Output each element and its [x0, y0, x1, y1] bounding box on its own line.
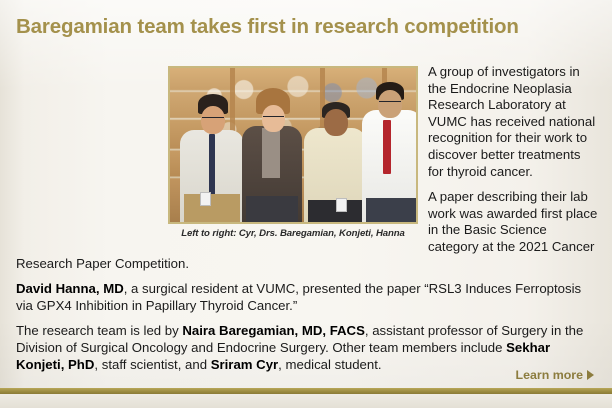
person-baregamian-pants: [246, 196, 298, 222]
person-cyr-badge: [200, 192, 211, 206]
person-konjeti-pants: [308, 200, 362, 222]
team-photo: [168, 66, 418, 224]
person-baregamian-glasses: [263, 112, 284, 117]
person-cyr: [178, 86, 246, 222]
footer-strip: [0, 394, 612, 408]
person-baregamian: [240, 82, 304, 222]
person-hanna-glasses: [379, 97, 401, 102]
person-baregamian-head: [262, 105, 285, 132]
person-konjeti-badge: [336, 198, 347, 212]
person-cyr-head: [201, 106, 225, 134]
article-paragraph-3: David Hanna, MD, a surgical resident at …: [16, 281, 598, 314]
person-cyr-pants: [184, 194, 240, 222]
article-body: Left to right: Cyr, Drs. Baregamian, Kon…: [16, 64, 598, 364]
paragraph-4-lead: The research team is led by: [16, 323, 182, 338]
photo-caption: Left to right: Cyr, Drs. Baregamian, Kon…: [168, 228, 418, 240]
article-card: Baregamian team takes first in research …: [0, 0, 612, 408]
paragraph-1-text: A group of investigators in the Endocrin…: [428, 64, 595, 179]
person-baregamian-blouse: [262, 128, 280, 178]
person-hanna: [362, 72, 418, 222]
chevron-right-icon: [587, 370, 594, 380]
paragraph-4-end: , medical student.: [278, 357, 381, 372]
person-konjeti-head: [324, 109, 348, 136]
article-paragraph-4: The research team is led by Naira Barega…: [16, 323, 598, 373]
person-konjeti: [302, 90, 368, 222]
person-cyr-glasses: [202, 113, 224, 118]
paragraph-4-mid-2: , staff scientist, and: [94, 357, 210, 372]
hanna-name: David Hanna, MD: [16, 281, 124, 296]
learn-more-link[interactable]: Learn more: [516, 368, 594, 382]
person-cyr-tie: [209, 134, 215, 196]
baregamian-name: Naira Baregamian, MD, FACS: [182, 323, 364, 338]
person-hanna-tie: [383, 120, 391, 174]
person-hanna-head: [378, 90, 402, 118]
person-hanna-pants: [366, 198, 418, 222]
learn-more-label: Learn more: [516, 368, 583, 382]
cyr-name: Sriram Cyr: [211, 357, 278, 372]
page-title: Baregamian team takes first in research …: [16, 14, 600, 40]
photo-figure: Left to right: Cyr, Drs. Baregamian, Kon…: [168, 66, 418, 240]
